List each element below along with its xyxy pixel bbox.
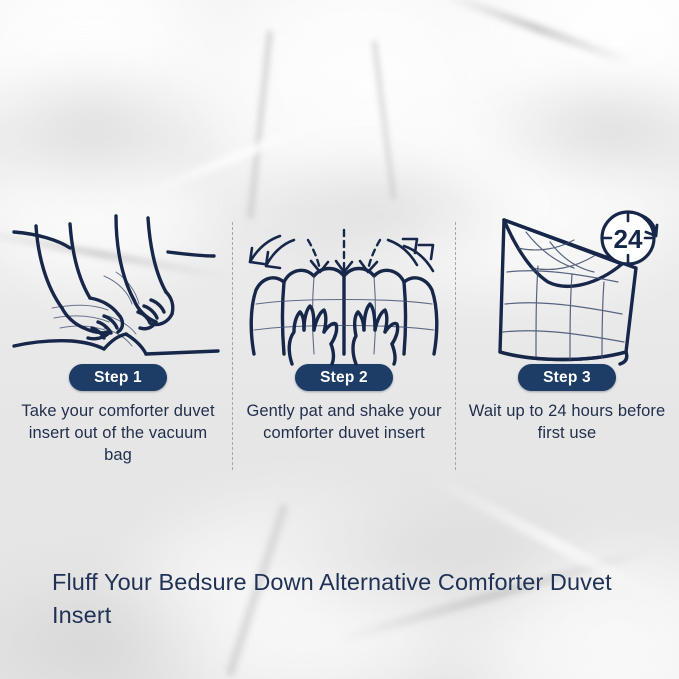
step-1-caption: Take your comforter duvet insert out of … xyxy=(15,400,221,466)
arrow-up-left-icon xyxy=(250,236,294,268)
infographic-canvas: Step 1 Take your comforter duvet insert … xyxy=(0,0,679,679)
step-column-2: Step 2 Gently pat and shake your comfort… xyxy=(238,212,450,474)
24-hour-badge-icon: 24 xyxy=(602,212,657,264)
step-divider-1 xyxy=(232,222,233,470)
step-1-illustration xyxy=(8,212,228,364)
step-column-3: 24 Step 3 Wait up to 24 hours before fir… xyxy=(460,212,674,474)
arrow-up-right-icon xyxy=(388,239,433,271)
step-3-badge: Step 3 xyxy=(518,364,616,391)
folded-comforter-icon: 24 xyxy=(460,212,674,364)
step-3-caption: Wait up to 24 hours before first use xyxy=(465,400,670,444)
pat-and-shake-comforter-icon xyxy=(238,212,450,364)
24-hour-badge-number: 24 xyxy=(614,224,643,254)
headline: Fluff Your Bedsure Down Alternative Comf… xyxy=(52,566,664,632)
arrow-down-dashed-icon xyxy=(308,230,380,270)
step-column-1: Step 1 Take your comforter duvet insert … xyxy=(8,212,228,474)
step-2-illustration xyxy=(238,212,450,364)
hands-pulling-comforter-icon xyxy=(8,212,228,364)
step-1-badge: Step 1 xyxy=(69,364,167,391)
steps-band: Step 1 Take your comforter duvet insert … xyxy=(0,212,679,474)
step-2-caption: Gently pat and shake your comforter duve… xyxy=(244,400,444,444)
step-divider-2 xyxy=(455,222,456,470)
step-3-illustration: 24 xyxy=(460,212,674,364)
step-2-badge: Step 2 xyxy=(295,364,393,391)
